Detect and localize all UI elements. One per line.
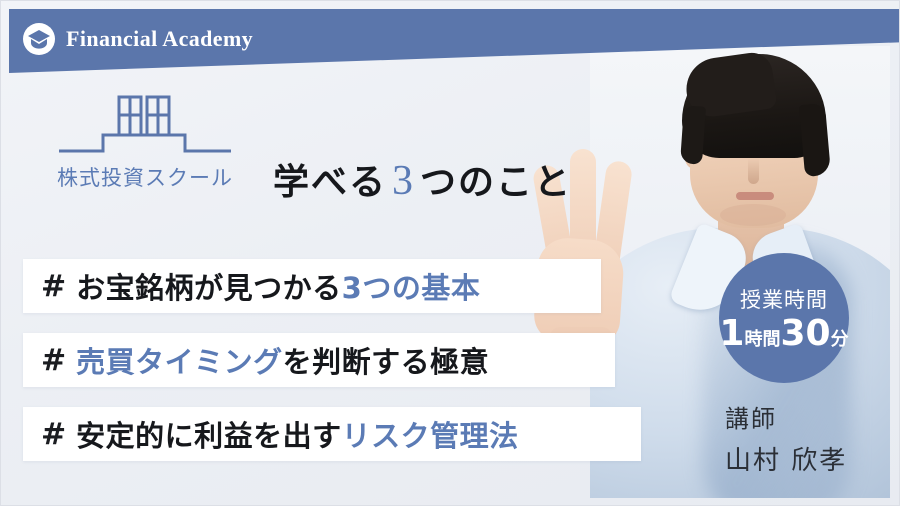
- sideburn-left: [680, 105, 706, 164]
- page-title: 学べる3つのこと: [273, 153, 572, 205]
- feature-highlight: 3つの基本: [342, 271, 481, 305]
- list-item: # 安定的に利益を出すリスク管理法: [23, 407, 641, 461]
- hash-marker: #: [41, 343, 66, 378]
- list-item: # 売買タイミングを判断する極意: [23, 333, 615, 387]
- headline-after: つのこと: [420, 162, 572, 203]
- hash-marker: #: [41, 269, 66, 304]
- feature-highlight: リスク管理法: [342, 419, 519, 453]
- feature-plain-before: お宝銘柄が見つかる: [76, 271, 342, 305]
- feature-plain-after: を判断する極意: [283, 345, 490, 379]
- duration-hours-unit: 時間: [744, 331, 780, 349]
- school-building-icon: [57, 93, 233, 155]
- school-badge-label: 株式投資スクール: [31, 162, 259, 192]
- feature-highlight: 売買タイミング: [76, 345, 283, 379]
- hash-marker: #: [41, 417, 66, 452]
- promo-banner: Financial Academy 株式投資スクール 学べる3つのこと # お宝…: [0, 0, 900, 506]
- duration-hours: 1: [719, 316, 744, 352]
- nose: [748, 158, 759, 184]
- feature-plain-before: 安定的に利益を出す: [76, 419, 342, 453]
- school-badge: 株式投資スクール: [31, 93, 259, 192]
- duration-value: 1 時間 30 分: [719, 316, 848, 352]
- duration-badge: 授業時間 1 時間 30 分: [719, 253, 849, 383]
- list-item: # お宝銘柄が見つかる3つの基本: [23, 259, 601, 313]
- chin-shading: [720, 204, 786, 226]
- feature-list: # お宝銘柄が見つかる3つの基本 # 売買タイミングを判断する極意 # 安定的に…: [23, 259, 641, 481]
- brand-name: Financial Academy: [66, 26, 253, 52]
- headline-number: 3: [387, 158, 420, 204]
- duration-title: 授業時間: [740, 284, 828, 314]
- feature-text: お宝銘柄が見つかる3つの基本: [76, 265, 480, 307]
- duration-minutes: 30: [780, 316, 830, 352]
- feature-text: 安定的に利益を出すリスク管理法: [76, 413, 519, 455]
- mouth: [736, 192, 774, 200]
- feature-text: 売買タイミングを判断する極意: [76, 339, 489, 381]
- instructor-name: 山村 欣孝: [725, 440, 847, 477]
- instructor-caption: 講師 山村 欣孝: [725, 399, 847, 477]
- brand-lockup[interactable]: Financial Academy: [23, 23, 253, 55]
- graduation-cap-icon: [23, 23, 55, 55]
- headline-before: 学べる: [273, 162, 387, 203]
- duration-minutes-unit: 分: [831, 331, 849, 349]
- instructor-role: 講師: [725, 399, 847, 434]
